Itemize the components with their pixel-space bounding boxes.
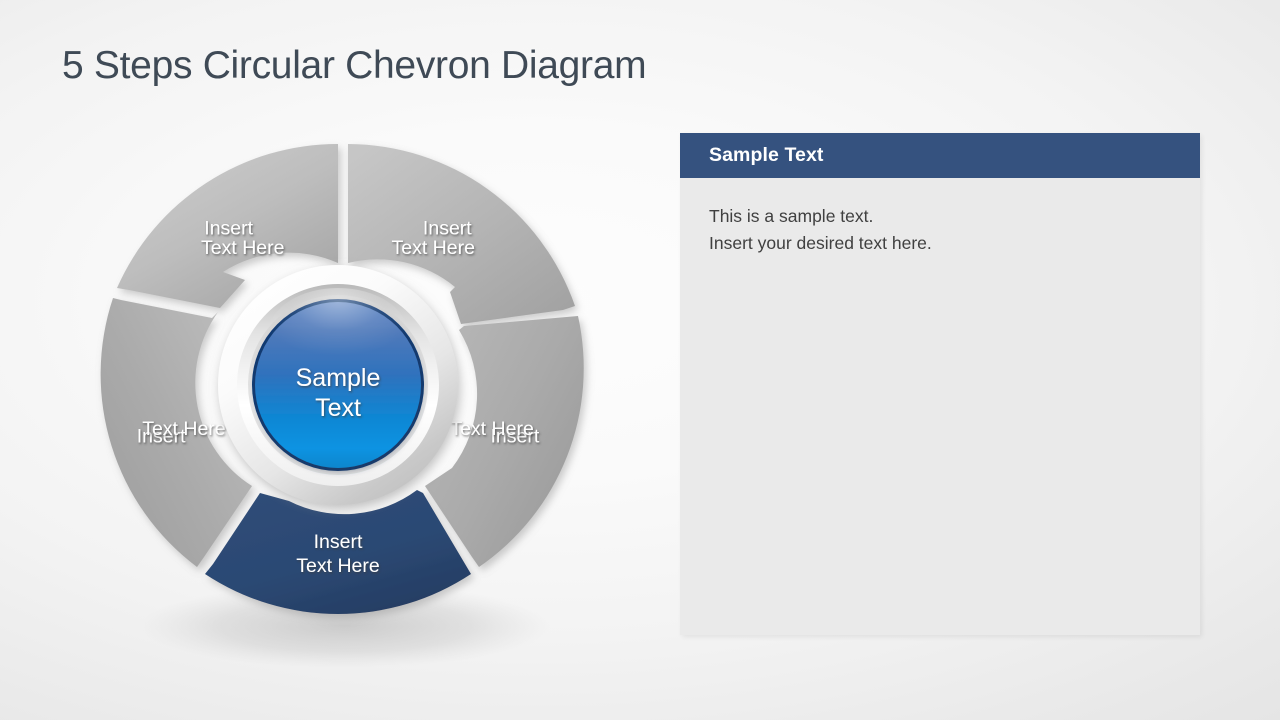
slide-canvas: 5 Steps Circular Chevron Diagram (0, 0, 1280, 720)
panel-body-line-1: This is a sample text. (709, 203, 1171, 230)
center-label-line1: Sample (296, 364, 381, 392)
panel-body-line-2: Insert your desired text here. (709, 230, 1171, 257)
page-title: 5 Steps Circular Chevron Diagram (62, 44, 646, 88)
diagram-svg: Insert Text Here Insert Text Here Insert… (60, 120, 630, 680)
step-label-line1-b: Insert (314, 531, 363, 553)
circular-chevron-diagram[interactable]: Insert Text Here Insert Text Here Insert… (60, 120, 630, 680)
sample-text-panel: Sample Text This is a sample text. Inser… (680, 133, 1200, 635)
step-label-line2-r: Text Here (450, 418, 533, 440)
step-label-line2-b: Text Here (296, 555, 379, 577)
center-hub[interactable]: Sample Text (218, 265, 458, 505)
panel-header: Sample Text (680, 133, 1200, 178)
step-label-line2-tr: Text Here (391, 237, 474, 259)
panel-header-title: Sample Text (709, 144, 824, 167)
panel-body[interactable]: This is a sample text. Insert your desir… (680, 178, 1200, 256)
step-label-line2-tl: Text Here (201, 237, 284, 259)
step-label-line2-l: Text Here (142, 418, 225, 440)
center-label-line2: Text (315, 394, 361, 422)
